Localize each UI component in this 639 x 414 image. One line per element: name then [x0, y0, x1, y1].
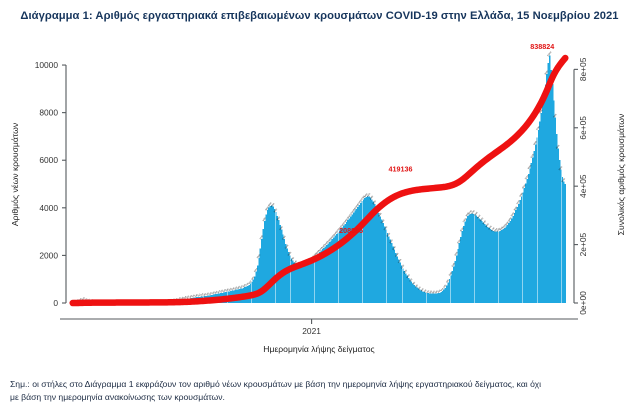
bar [556, 134, 557, 303]
bar [359, 205, 360, 303]
bar [460, 237, 461, 303]
y-tick-label-right: 4e+05 [578, 174, 588, 198]
bar [354, 211, 355, 303]
bar [380, 216, 381, 303]
bar [449, 279, 450, 303]
bar [387, 233, 388, 303]
bar [277, 216, 278, 303]
bar [515, 210, 516, 303]
bar [452, 271, 453, 303]
bar [502, 229, 503, 303]
bar [545, 85, 546, 303]
bar [504, 228, 505, 303]
bar [463, 226, 464, 303]
bar [480, 220, 481, 303]
y-tick-label-left: 2000 [39, 250, 58, 260]
y-tick-label-left: 0 [53, 298, 58, 308]
bar [381, 220, 382, 303]
bar [255, 272, 256, 303]
bar [510, 221, 511, 303]
bar [447, 283, 448, 303]
bar [357, 207, 358, 303]
bar [445, 288, 446, 303]
bar [473, 214, 474, 303]
bar [493, 231, 494, 303]
bar [442, 291, 443, 303]
bar [271, 205, 272, 303]
bar [457, 249, 458, 303]
y-tick-label-left: 10000 [35, 60, 59, 70]
bar [459, 243, 460, 303]
y-tick-label-left: 4000 [39, 203, 58, 213]
y-tick-label-right: 2e+05 [578, 233, 588, 257]
y-tick-label-right: 8e+05 [578, 57, 588, 81]
bar [385, 230, 386, 303]
bar [559, 160, 560, 303]
bar [546, 74, 547, 303]
bar [301, 266, 302, 303]
bar [282, 234, 283, 303]
bar [553, 101, 554, 303]
bar [375, 207, 376, 303]
bar [275, 212, 276, 303]
y-tick-label-left: 6000 [39, 155, 58, 165]
bar [525, 184, 526, 303]
x-tick-label: 2021 [302, 326, 321, 336]
bar [518, 204, 519, 303]
bar [433, 294, 434, 303]
bar [543, 95, 544, 303]
bar [524, 188, 525, 303]
bar [550, 70, 551, 303]
bar [501, 230, 502, 303]
bar-value-label: 900 [410, 278, 414, 283]
bar [476, 215, 477, 303]
bar [528, 174, 529, 303]
bar [302, 265, 303, 303]
bar [539, 122, 540, 303]
y-tick-label-left: 8000 [39, 108, 58, 118]
y-tick-label-right: 0e+00 [578, 291, 588, 315]
bar [312, 259, 313, 303]
bar [367, 196, 368, 303]
bar [392, 246, 393, 303]
bar [384, 226, 385, 303]
bar [308, 263, 309, 303]
bar [481, 221, 482, 303]
bar [311, 260, 312, 303]
bar [478, 218, 479, 303]
x-axis-title: Ημερομηνία λήψης δείγματος [263, 344, 374, 354]
bar [390, 240, 391, 303]
bar [254, 276, 255, 303]
bar [440, 292, 441, 303]
plot-area: 1225569512085624834261814119152024282622… [0, 0, 639, 370]
bar [439, 293, 440, 303]
bar [281, 230, 282, 303]
bar [316, 255, 317, 303]
bar [279, 225, 280, 303]
bar [272, 207, 273, 303]
bar [391, 243, 392, 303]
y-axis-title-left: Αριθμός νέων κρουσμάτων [10, 123, 20, 226]
bar [361, 201, 362, 303]
footnote-line-1: Σημ.: οι στήλες στο Διάγραμμα 1 εκφράζου… [10, 378, 630, 391]
bar [455, 261, 456, 303]
bar [495, 232, 496, 303]
bar [535, 145, 536, 303]
bar [395, 253, 396, 303]
bar [374, 204, 375, 303]
bar [356, 209, 357, 303]
bar [446, 285, 447, 303]
bar [487, 227, 488, 303]
bar [563, 182, 564, 303]
bar [466, 218, 467, 303]
bar [511, 219, 512, 303]
bar [257, 265, 258, 303]
bar [541, 113, 542, 303]
bar [531, 163, 532, 303]
bar [512, 216, 513, 303]
bar [488, 228, 489, 303]
bar [453, 266, 454, 303]
bar [471, 214, 472, 303]
bar [443, 290, 444, 303]
bar [542, 104, 543, 303]
bar [508, 223, 509, 303]
bar [469, 214, 470, 303]
bar [431, 294, 432, 303]
bar [289, 255, 290, 303]
y-tick-label-right: 6e+05 [578, 116, 588, 140]
bar [538, 130, 539, 303]
bar [398, 259, 399, 303]
bar [558, 148, 559, 303]
bar [462, 231, 463, 303]
bar [313, 258, 314, 303]
chart-svg: 1225569512085624834261814119152024282622… [0, 0, 639, 370]
bar [467, 216, 468, 303]
bar [366, 197, 367, 303]
cumulative-value-label: 208885 [339, 226, 363, 235]
bar [521, 196, 522, 303]
footnote-line-2: με βάση την ημερομηνία ανακοίνωσης των κ… [10, 391, 630, 404]
bar [450, 275, 451, 303]
bar [565, 184, 566, 303]
bar [522, 192, 523, 303]
bar [536, 137, 537, 303]
bar [514, 213, 515, 303]
bars-group [72, 56, 566, 304]
bar [378, 213, 379, 303]
bar [278, 220, 279, 303]
bar [309, 262, 310, 303]
bar [505, 227, 506, 303]
bar [490, 229, 491, 303]
bar [299, 266, 300, 303]
bar [456, 255, 457, 303]
bar [363, 199, 364, 303]
bar [491, 230, 492, 303]
cumulative-value-label: 419136 [389, 165, 413, 174]
bar [388, 236, 389, 303]
bar [404, 271, 405, 303]
bar [436, 294, 437, 303]
bar [486, 225, 487, 303]
bar [438, 293, 439, 303]
bar [500, 231, 501, 303]
y-axis-title-right: Συνολικός αριθμός κρουσμάτων [616, 114, 626, 236]
bar [497, 232, 498, 303]
bar [428, 293, 429, 303]
bar [303, 265, 304, 303]
bar [377, 210, 378, 303]
bar [477, 217, 478, 303]
bar [484, 224, 485, 303]
bar [507, 225, 508, 303]
cumulative-value-label: 838824 [530, 42, 554, 51]
figure-container: Διάγραμμα 1: Αριθμός εργαστηριακά επιβεβ… [0, 0, 639, 414]
bar [296, 265, 297, 303]
bar [305, 264, 306, 303]
bar [394, 250, 395, 303]
bar [532, 157, 533, 303]
bar [360, 203, 361, 303]
bar [494, 231, 495, 303]
bar [383, 223, 384, 303]
footnote: Σημ.: οι στήλες στο Διάγραμμα 1 εκφράζου… [10, 378, 630, 405]
bar [401, 265, 402, 303]
bar [425, 293, 426, 303]
bar [422, 291, 423, 303]
bar [288, 252, 289, 303]
bar [529, 169, 530, 303]
bar [526, 179, 527, 303]
bar [562, 177, 563, 303]
bar [548, 63, 549, 303]
bar [464, 222, 465, 303]
bar [470, 214, 471, 303]
bar [474, 214, 475, 303]
bar [555, 117, 556, 303]
bar [519, 200, 520, 303]
bar [306, 264, 307, 304]
bar [534, 151, 535, 303]
bar [274, 209, 275, 303]
bar [560, 170, 561, 303]
bar [315, 256, 316, 303]
bar [517, 207, 518, 303]
bar [483, 223, 484, 303]
bar [298, 265, 299, 303]
bar [364, 198, 365, 303]
bar [498, 231, 499, 303]
